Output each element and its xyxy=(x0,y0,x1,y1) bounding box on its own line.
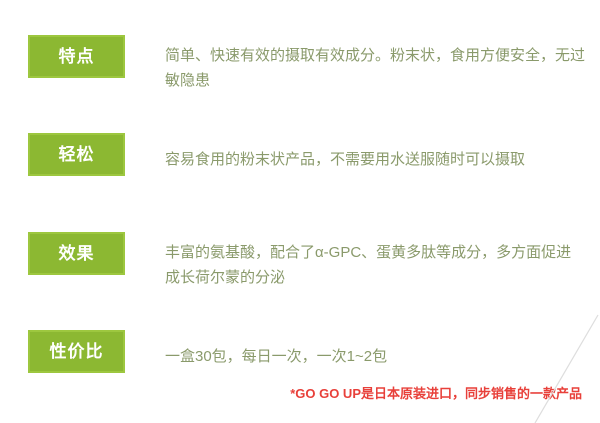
feature-row: 性价比 一盒30包，每日一次，一次1~2包 xyxy=(0,330,600,373)
feature-row: 特点 简单、快速有效的摄取有效成分。粉末状，食用方便安全，无过敏隐患 xyxy=(0,35,600,93)
feature-label-badge-4: 性价比 xyxy=(28,330,125,373)
feature-description-3: 丰富的氨基酸，配合了α-GPC、蛋黄多肽等成分，多方面促进成长荷尔蒙的分泌 xyxy=(165,232,585,290)
feature-label-cell: 特点 xyxy=(0,35,165,78)
product-feature-infographic: 特点 简单、快速有效的摄取有效成分。粉末状，食用方便安全，无过敏隐患 轻松 容易… xyxy=(0,0,600,423)
feature-body-cell: 简单、快速有效的摄取有效成分。粉末状，食用方便安全，无过敏隐患 xyxy=(165,35,600,93)
import-disclaimer-note: *GO GO UP是日本原装进口，同步销售的一款产品 xyxy=(290,386,582,402)
feature-description-4: 一盒30包，每日一次，一次1~2包 xyxy=(165,330,585,369)
feature-body-cell: 丰富的氨基酸，配合了α-GPC、蛋黄多肽等成分，多方面促进成长荷尔蒙的分泌 xyxy=(165,232,600,290)
feature-description-1: 简单、快速有效的摄取有效成分。粉末状，食用方便安全，无过敏隐患 xyxy=(165,35,585,93)
feature-label-cell: 性价比 xyxy=(0,330,165,373)
feature-label-cell: 轻松 xyxy=(0,133,165,176)
feature-label-cell: 效果 xyxy=(0,232,165,275)
feature-row: 效果 丰富的氨基酸，配合了α-GPC、蛋黄多肽等成分，多方面促进成长荷尔蒙的分泌 xyxy=(0,232,600,290)
feature-label-badge-2: 轻松 xyxy=(28,133,125,176)
feature-description-2: 容易食用的粉末状产品，不需要用水送服随时可以摄取 xyxy=(165,133,585,172)
feature-row: 轻松 容易食用的粉末状产品，不需要用水送服随时可以摄取 xyxy=(0,133,600,176)
feature-label-badge-1: 特点 xyxy=(28,35,125,78)
feature-body-cell: 容易食用的粉末状产品，不需要用水送服随时可以摄取 xyxy=(165,133,600,172)
feature-body-cell: 一盒30包，每日一次，一次1~2包 xyxy=(165,330,600,369)
feature-label-badge-3: 效果 xyxy=(28,232,125,275)
